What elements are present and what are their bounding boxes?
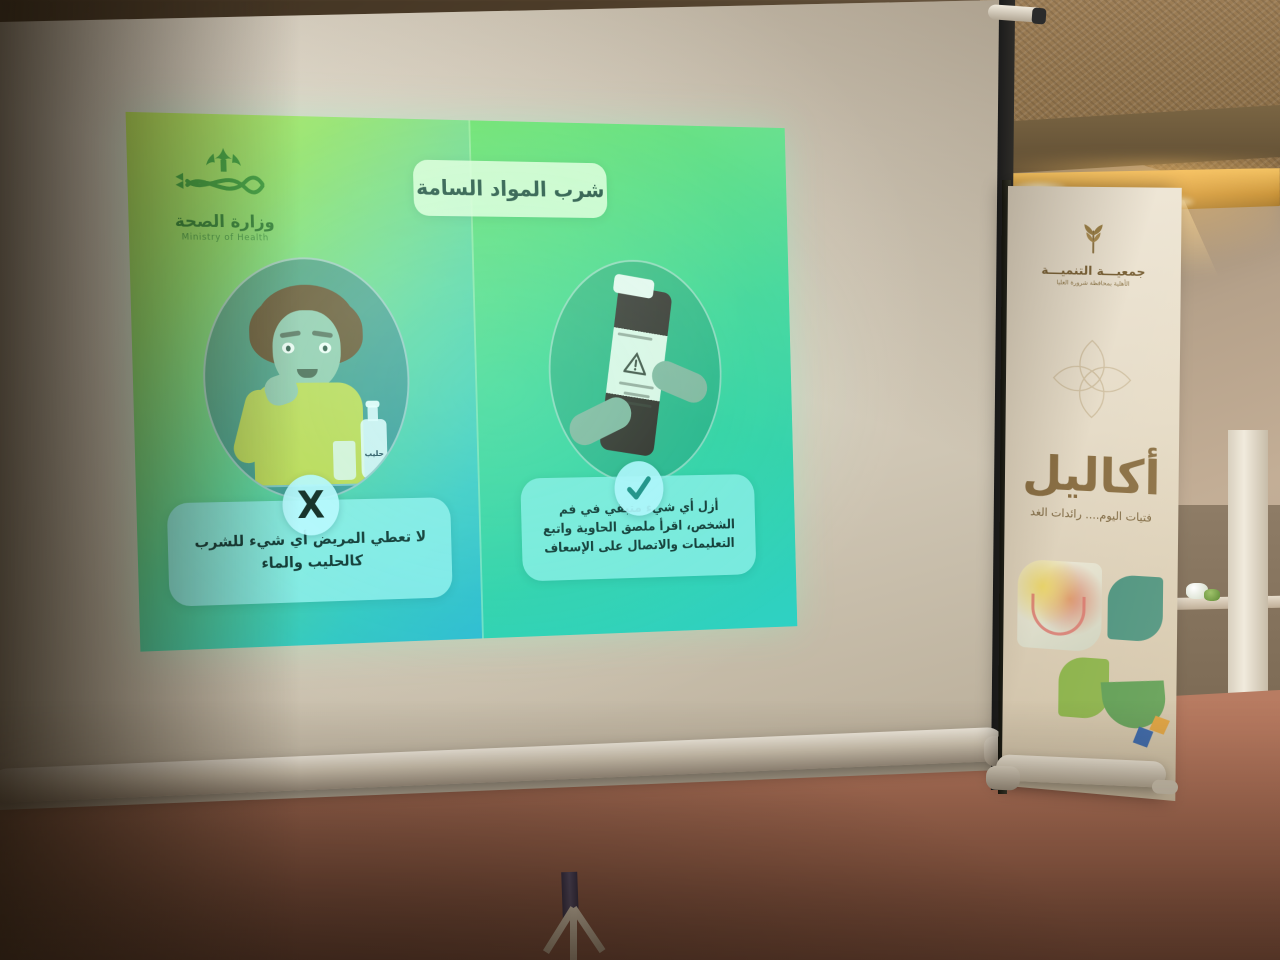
slide-title-pill: شرب المواد السامة (413, 160, 608, 219)
hazard-warning-icon (623, 350, 648, 376)
boy-pupil-right (323, 345, 328, 351)
boy-mouth (297, 369, 318, 378)
panel-do: أزل أي شيء متبقي في فم الشخص، اقرأ ملصق … (472, 245, 797, 629)
screen-roller-cap (1031, 8, 1046, 25)
milk-bottle-label: حليب (363, 449, 386, 458)
illustration-circle-container (546, 259, 724, 485)
shelf-plant (1204, 589, 1220, 601)
boy-eye-right (319, 343, 332, 354)
boy-eyebrow-right (312, 330, 333, 338)
x-mark-icon: X (297, 486, 326, 524)
room-scene: وزارة الصحة Ministry of Health شرب الموا… (0, 0, 1280, 960)
milk-bottle-neck (367, 406, 378, 422)
bottom-ambient-shadow (0, 700, 1280, 960)
slide-title: شرب المواد السامة (416, 176, 605, 203)
milk-bottle-cap (365, 401, 379, 408)
check-mark-icon (625, 473, 654, 504)
drinking-glass (333, 441, 357, 480)
